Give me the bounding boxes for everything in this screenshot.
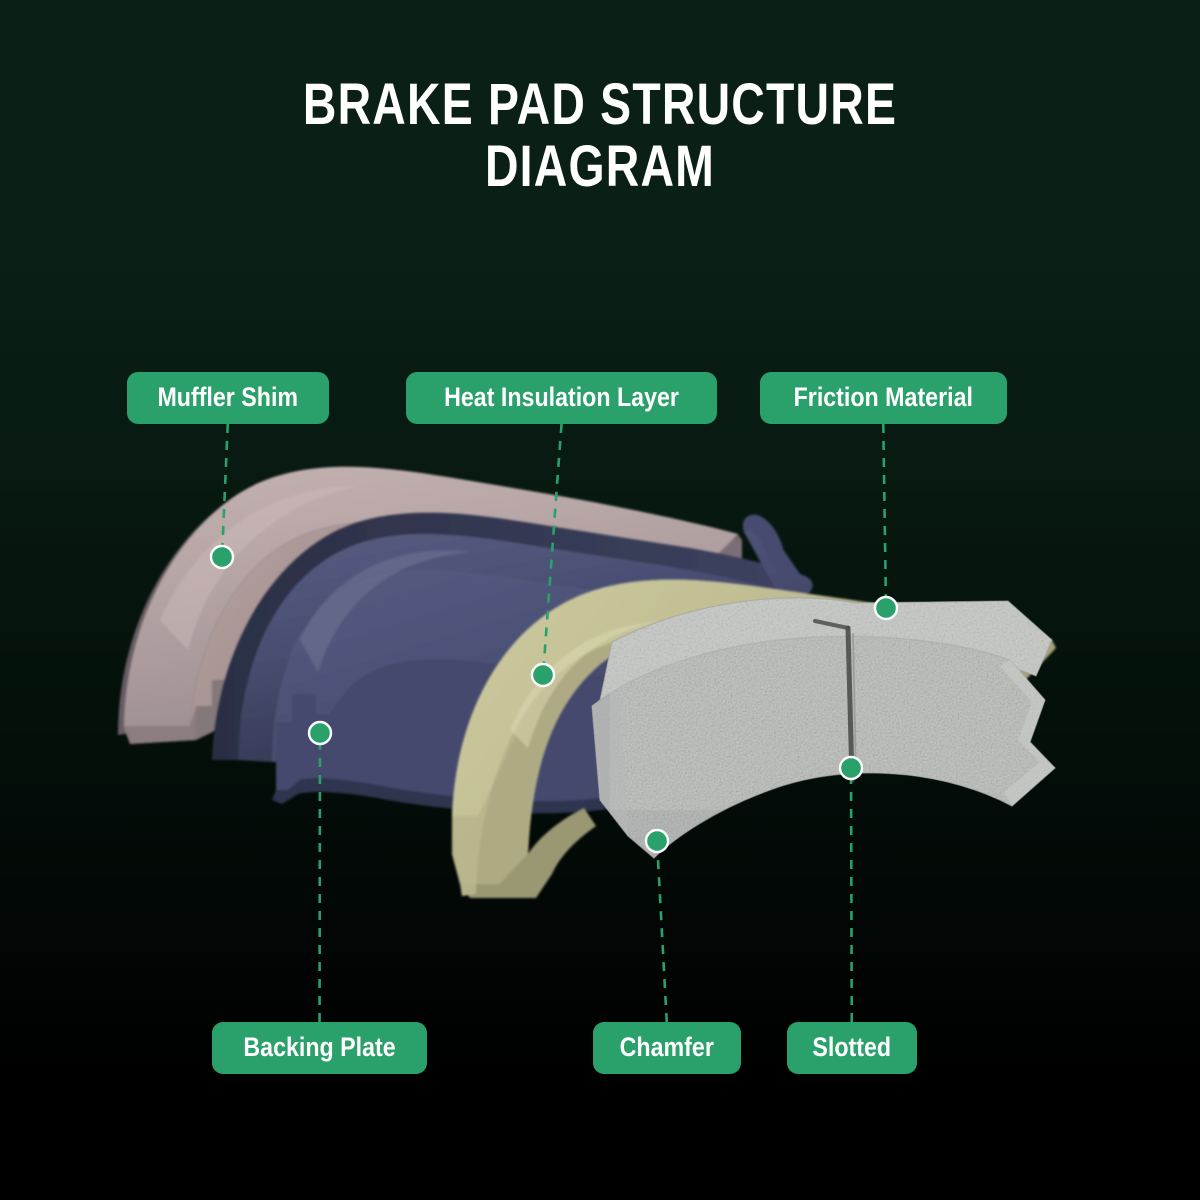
callout-pill-slotted[interactable]: Slotted: [787, 1022, 917, 1074]
diagram-canvas: BRAKE PAD STRUCTURE DIAGRAM: [0, 0, 1200, 1200]
pill-background: Slotted: [787, 1022, 917, 1074]
callout-label-text: Backing Plate: [243, 1034, 395, 1061]
callout-dot-backing-plate[interactable]: [309, 722, 331, 744]
pill-background: Backing Plate: [212, 1022, 427, 1074]
callout-label-text: Slotted: [812, 1034, 891, 1061]
pill-background: Chamfer: [593, 1022, 741, 1074]
callout-pill-muffler-shim[interactable]: Muffler Shim: [127, 372, 329, 424]
connector-line-friction-material: [883, 424, 886, 608]
callout-label-text: Friction Material: [794, 384, 973, 411]
connector-line-slotted: [851, 768, 852, 1022]
pill-background: Muffler Shim: [127, 372, 329, 424]
callout-label-text: Chamfer: [620, 1034, 714, 1061]
callout-label-text: Muffler Shim: [157, 384, 298, 411]
brake-pad-exploded-illustration: [0, 0, 1200, 1200]
callout-dot-heat-insulation[interactable]: [532, 664, 554, 686]
callout-pill-heat-insulation[interactable]: Heat Insulation Layer: [406, 372, 717, 424]
pill-background: Heat Insulation Layer: [406, 372, 717, 424]
callout-dot-slotted[interactable]: [840, 757, 862, 779]
callout-label-text: Heat Insulation Layer: [444, 384, 679, 411]
callout-pill-chamfer[interactable]: Chamfer: [593, 1022, 741, 1074]
callout-pill-backing-plate[interactable]: Backing Plate: [212, 1022, 427, 1074]
callout-dot-friction-material[interactable]: [875, 597, 897, 619]
callout-dot-chamfer[interactable]: [646, 830, 668, 852]
pill-background: Friction Material: [760, 372, 1007, 424]
connector-line-chamfer: [657, 841, 667, 1022]
callout-pill-friction-material[interactable]: Friction Material: [760, 372, 1007, 424]
callout-dot-muffler-shim[interactable]: [211, 546, 233, 568]
